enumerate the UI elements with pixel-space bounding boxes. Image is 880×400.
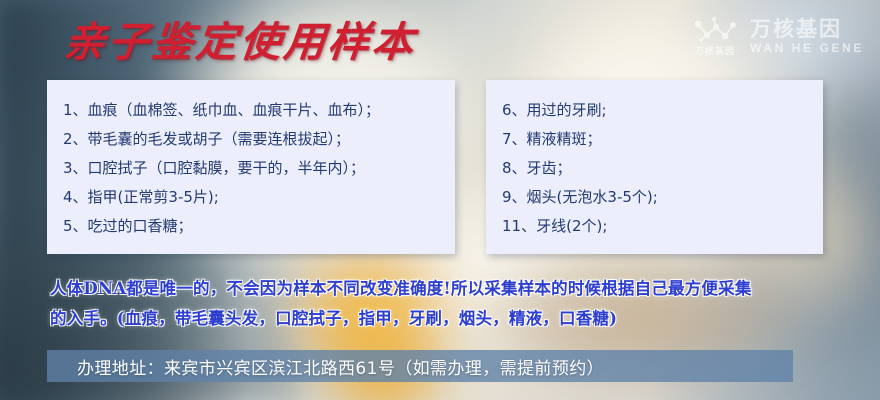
sample-list-left: 1、血痕（血棉签、纸巾血、血痕干片、血布）； 2、带毛囊的毛发或胡子（需要连根拔… [63,96,455,241]
list-item: 5、吃过的口香糖； [63,212,455,241]
list-item: 6、用过的牙刷; [502,96,823,125]
note-paragraph: 人体DNA都是唯一的，不会因为样本不同改变准确度!所以采集样本的时候根据自己最方… [50,274,850,334]
list-item: 1、血痕（血棉签、纸巾血、血痕干片、血布）； [63,96,455,125]
logo-wordmark: 万核基因 WAN HE GENE [750,18,864,55]
list-item: 11、牙线(2个); [502,212,823,241]
list-item: 2、带毛囊的毛发或胡子（需要连根拔起）； [63,125,455,154]
brand-logo: 万核基因 万核基因 WAN HE GENE [692,16,864,57]
list-item: 4、指甲(正常剪3-5片); [63,183,455,212]
list-item: 8、牙齿； [502,154,823,183]
note-line-1: 人体DNA都是唯一的，不会因为样本不同改变准确度!所以采集样本的时候根据自己最方… [50,274,850,304]
note-line-2: 的入手。(血痕，带毛囊头发，口腔拭子，指甲，牙刷，烟头，精液，口香糖) [50,304,850,334]
address-bar: 办理地址：来宾市兴宾区滨江北路西61号（如需办理，需提前预约） [47,350,793,382]
list-item: 9、烟头(无泡水3-5个); [502,183,823,212]
page-title: 亲子鉴定使用样本 [61,17,418,67]
list-item: 7、精液精斑； [502,125,823,154]
sample-list-panel-right: 6、用过的牙刷; 7、精液精斑； 8、牙齿； 9、烟头(无泡水3-5个); 11… [486,80,823,254]
logo-mark: 万核基因 [692,16,738,57]
address-text: 办理地址：来宾市兴宾区滨江北路西61号（如需办理，需提前预约） [47,354,604,379]
poster-canvas: 万核基因 万核基因 WAN HE GENE 亲子鉴定使用样本 1、血痕（血棉签、… [0,0,880,400]
logo-brand-cn: 万核基因 [750,18,842,41]
logo-brand-en: WAN HE GENE [750,42,864,55]
list-item: 3、口腔拭子（口腔黏膜，要干的，半年内）； [63,154,455,183]
dna-molecule-icon [692,16,738,42]
sample-list-panel-left: 1、血痕（血棉签、纸巾血、血痕干片、血布）； 2、带毛囊的毛发或胡子（需要连根拔… [47,80,455,254]
logo-mark-caption: 万核基因 [695,44,735,57]
sample-list-right: 6、用过的牙刷; 7、精液精斑； 8、牙齿； 9、烟头(无泡水3-5个); 11… [502,96,823,241]
